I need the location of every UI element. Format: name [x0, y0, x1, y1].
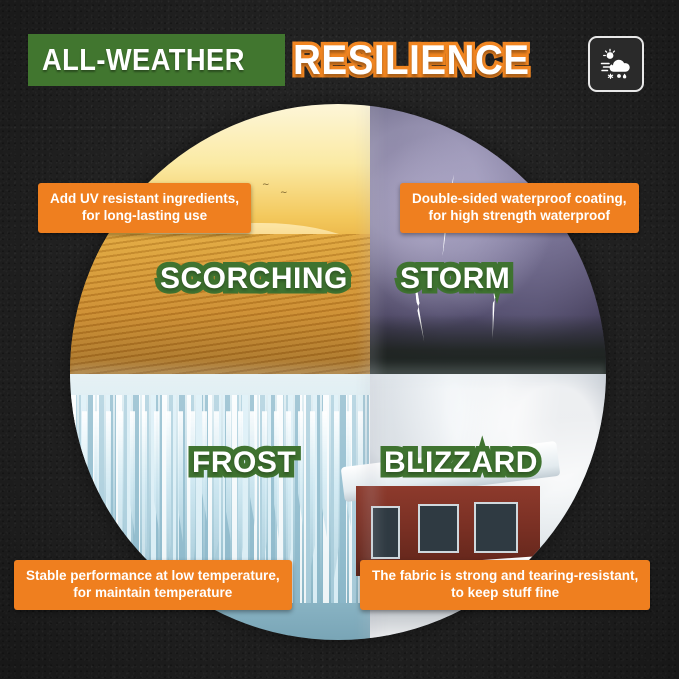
callout-line-2: for long-lasting use	[50, 207, 239, 224]
quadrant-seam-horizontal	[70, 360, 606, 388]
quadrant-scorching: ∼ ∼	[70, 104, 370, 374]
callout-line-2: for high strength waterproof	[412, 207, 627, 224]
callout-blizzard: The fabric is strong and tearing-resista…	[360, 560, 650, 610]
header-banner: ALL-WEATHER RESILIENCE	[28, 34, 560, 86]
mixed-weather-icon	[588, 36, 644, 92]
callout-storm: Double-sided waterproof coating, for hig…	[400, 183, 639, 233]
cabin-window	[418, 504, 459, 553]
label-blizzard: BLIZZARD	[384, 448, 538, 478]
header-orange-word: RESILIENCE	[283, 34, 560, 86]
callout-line-1: Add UV resistant ingredients,	[50, 190, 239, 207]
callout-line-1: Double-sided waterproof coating,	[412, 190, 627, 207]
label-scorching: SCORCHING	[160, 264, 348, 294]
callout-line-1: Stable performance at low temperature,	[26, 567, 280, 584]
quadrant-storm	[370, 104, 606, 374]
label-frost: FROST	[192, 448, 296, 478]
callout-scorching: Add UV resistant ingredients, for long-l…	[38, 183, 251, 233]
header-title-secondary: RESILIENCE	[293, 39, 529, 81]
label-storm: STORM	[400, 264, 510, 294]
callout-line-2: to keep stuff fine	[372, 584, 638, 601]
cabin-window	[474, 502, 518, 553]
callout-line-1: The fabric is strong and tearing-resista…	[372, 567, 638, 584]
dune-sand	[70, 234, 400, 374]
callout-frost: Stable performance at low temperature, f…	[14, 560, 292, 610]
header-green-band: ALL-WEATHER	[28, 34, 285, 86]
callout-line-2: for maintain temperature	[26, 584, 280, 601]
bird-icon: ∼	[280, 188, 288, 197]
header-title-primary: ALL-WEATHER	[42, 42, 245, 78]
infographic-canvas: ALL-WEATHER RESILIENCE	[0, 0, 679, 679]
bird-icon: ∼	[262, 180, 270, 189]
